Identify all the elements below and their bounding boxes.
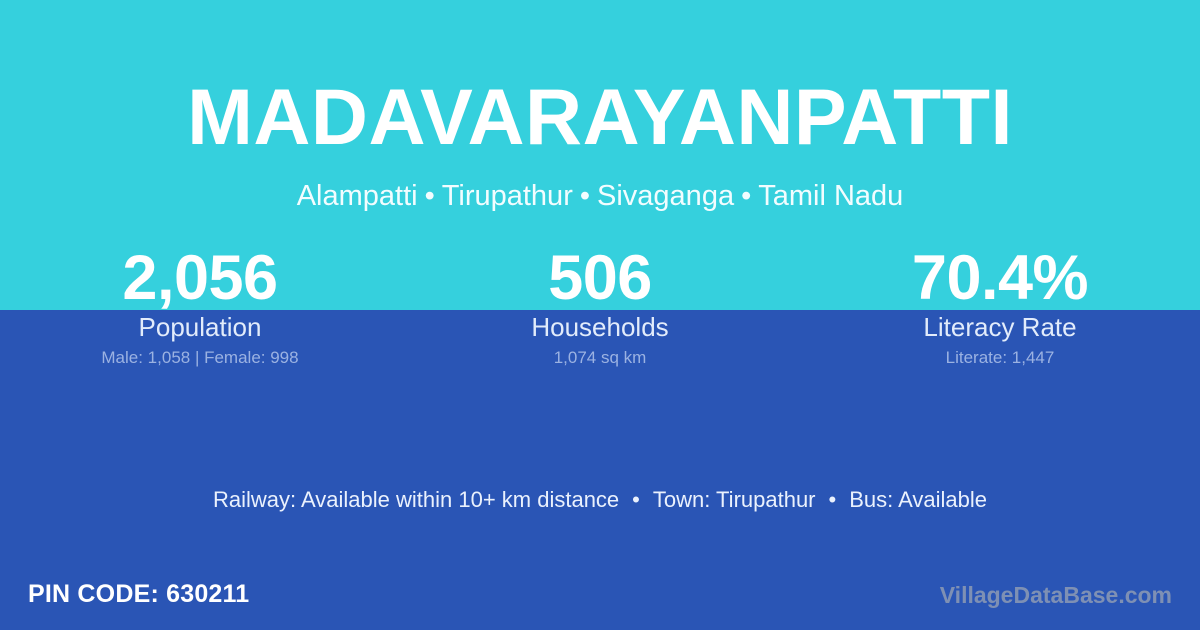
facility-separator: • [816, 487, 850, 512]
breadcrumb: Alampatti•Tirupathur•Sivaganga•Tamil Nad… [0, 182, 1200, 211]
breadcrumb-item: Alampatti [297, 180, 418, 212]
page-title: MADAVARAYANPATTI [0, 77, 1200, 156]
breadcrumb-separator: • [734, 180, 758, 212]
site-brand: VillageDataBase.com [940, 580, 1172, 610]
card-header: MADAVARAYANPATTI Alampatti•Tirupathur•Si… [0, 0, 1200, 230]
facility-separator: • [619, 487, 653, 512]
stat-value: 2,056 [0, 246, 400, 310]
stat-sublabel: Male: 1,058 | Female: 998 [0, 348, 400, 368]
stat-value: 70.4% [800, 246, 1200, 310]
breadcrumb-item: Sivaganga [597, 180, 734, 212]
facility-item: Railway: Available within 10+ km distanc… [213, 487, 619, 512]
stat-card: 506Households1,074 sq km [400, 246, 800, 368]
pin-code-label: PIN CODE: 630211 [28, 578, 249, 610]
village-info-card: MADAVARAYANPATTI Alampatti•Tirupathur•Si… [0, 0, 1200, 630]
stat-value: 506 [400, 246, 800, 310]
stat-label: Population [0, 312, 400, 342]
stat-card: 70.4%Literacy RateLiterate: 1,447 [800, 246, 1200, 368]
breadcrumb-separator: • [573, 180, 597, 212]
breadcrumb-separator: • [418, 180, 442, 212]
stat-label: Households [400, 312, 800, 342]
stat-sublabel: Literate: 1,447 [800, 348, 1200, 368]
stat-card: 2,056PopulationMale: 1,058 | Female: 998 [0, 246, 400, 368]
stats-row: 2,056PopulationMale: 1,058 | Female: 998… [0, 246, 1200, 368]
breadcrumb-item: Tamil Nadu [758, 180, 903, 212]
facilities-line: Railway: Available within 10+ km distanc… [0, 486, 1200, 514]
card-footer: PIN CODE: 630211 VillageDataBase.com [0, 578, 1200, 618]
facility-item: Bus: Available [849, 487, 987, 512]
facility-item: Town: Tirupathur [653, 487, 816, 512]
breadcrumb-item: Tirupathur [442, 180, 573, 212]
stat-sublabel: 1,074 sq km [400, 348, 800, 368]
stat-label: Literacy Rate [800, 312, 1200, 342]
